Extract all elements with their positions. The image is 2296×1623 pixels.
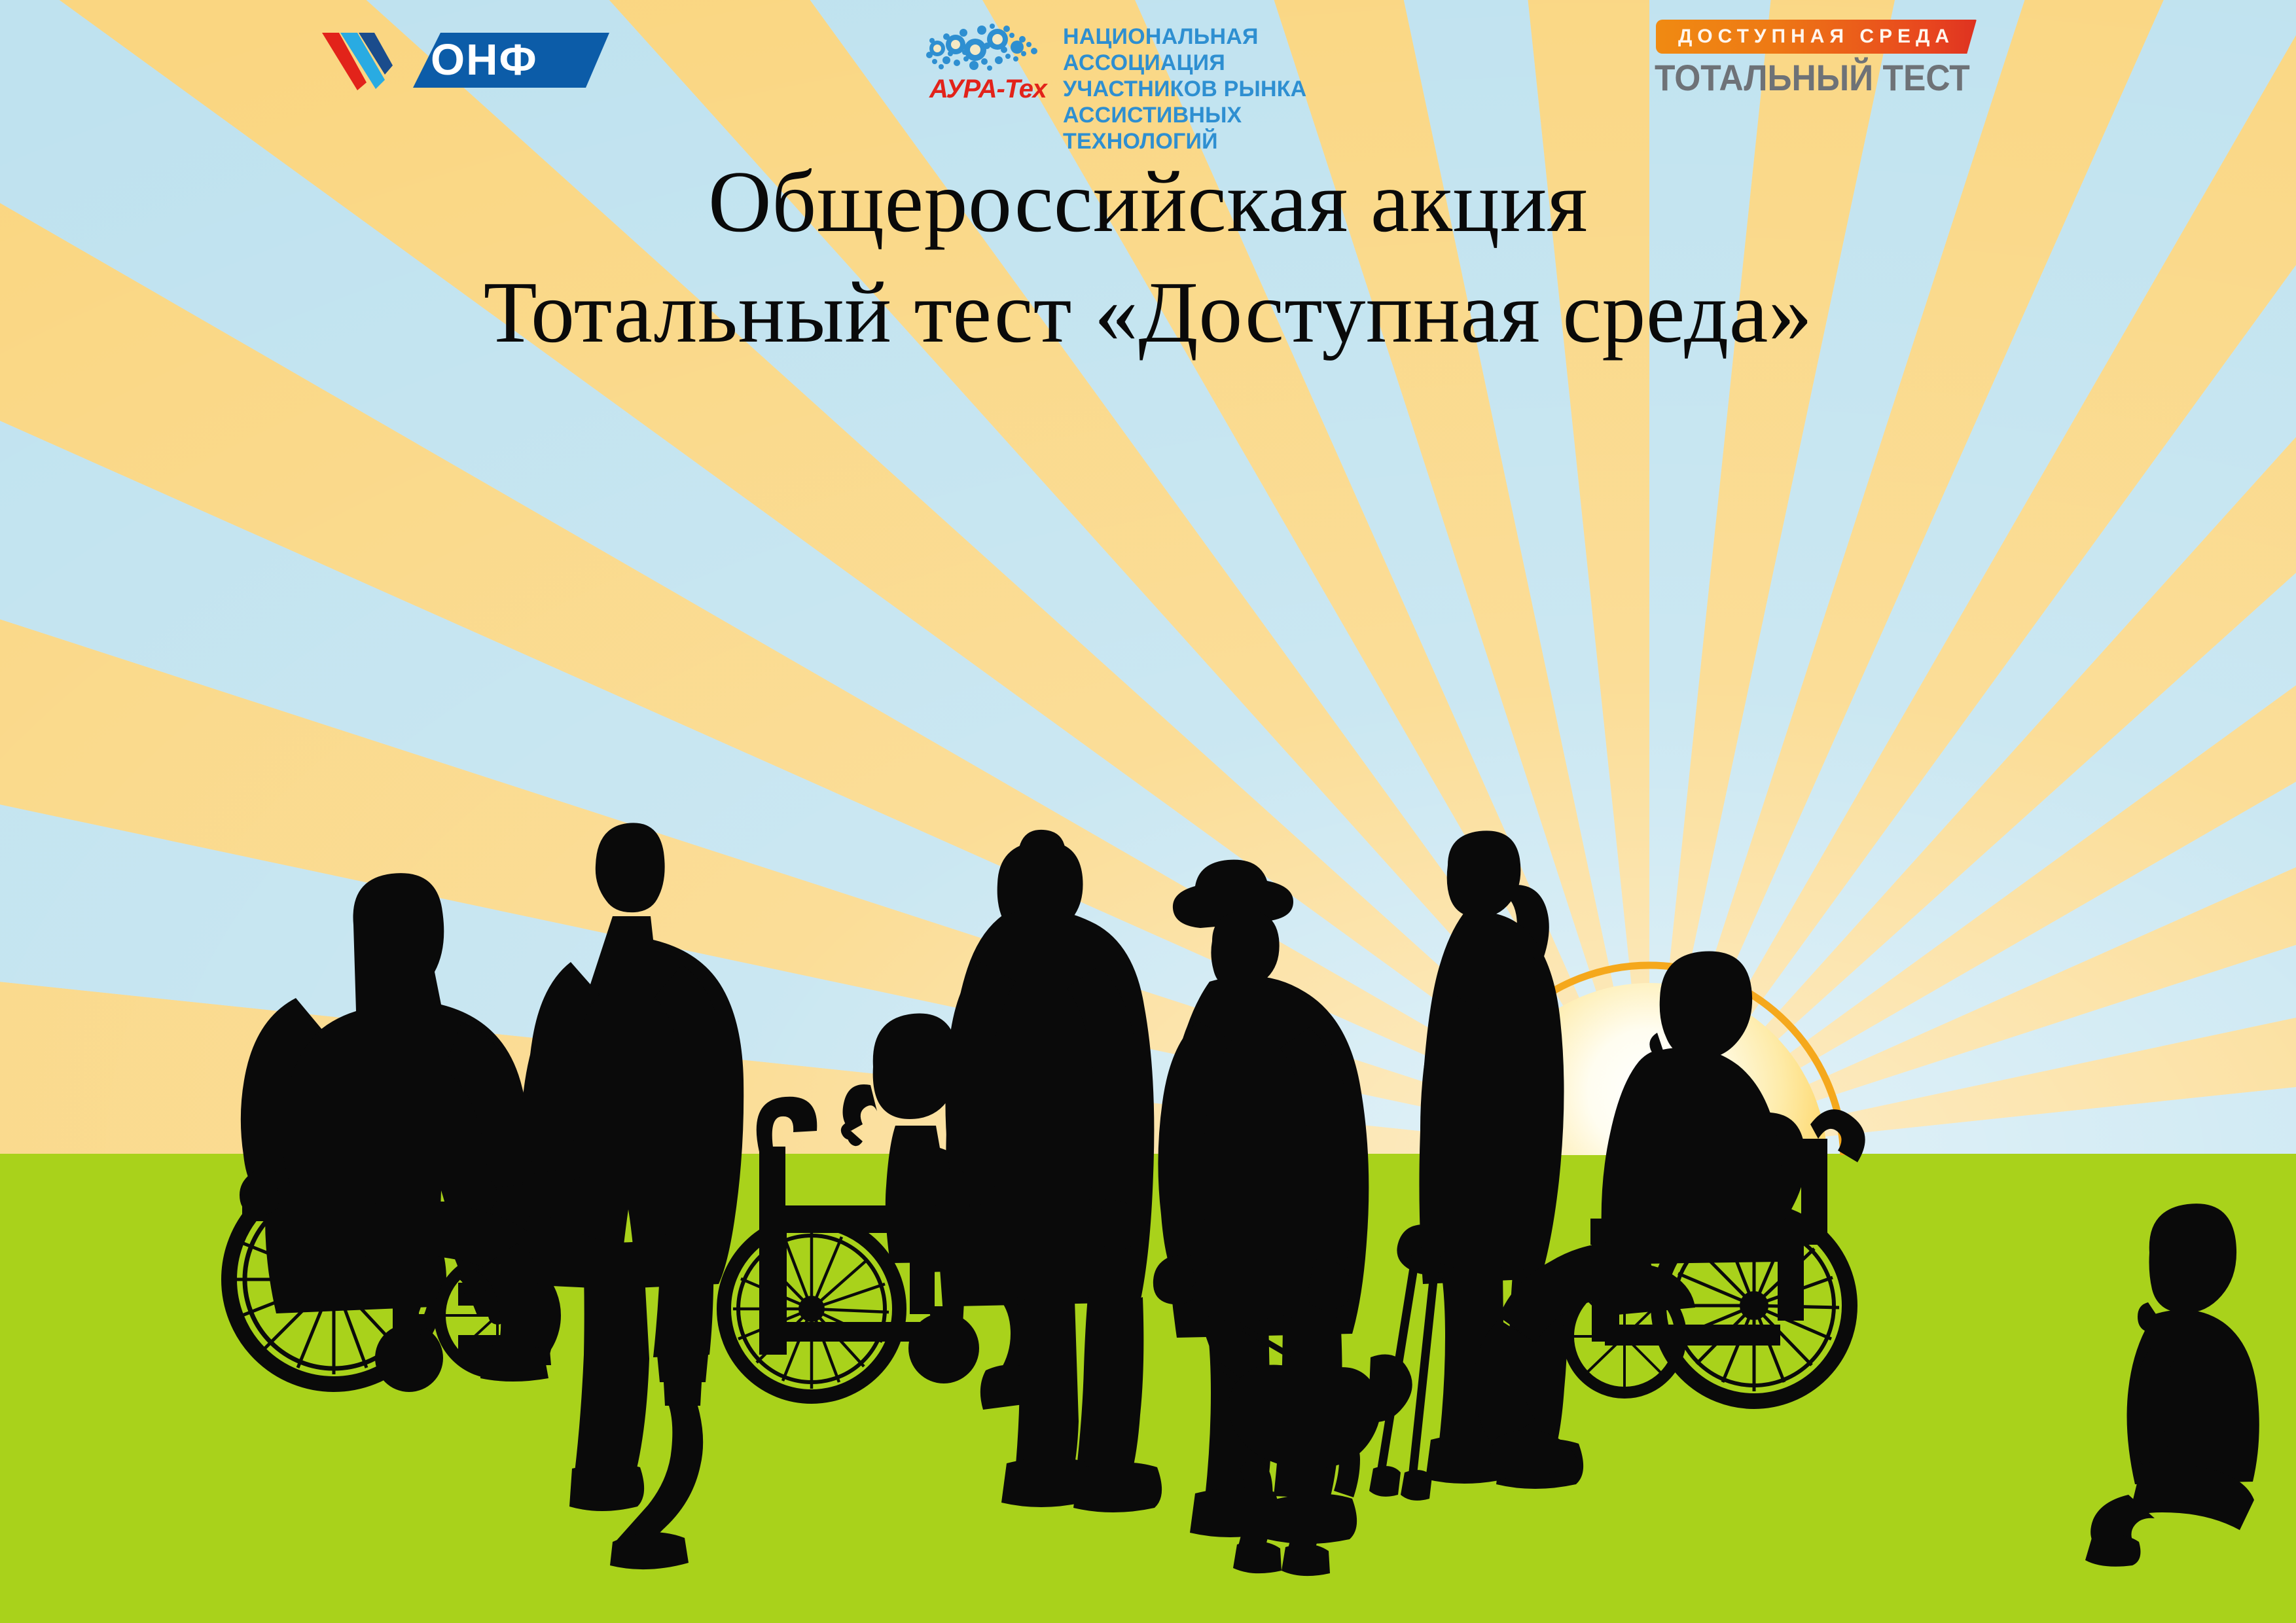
aura-brand-name: АУРА-Тех <box>929 75 1047 104</box>
aura-line-3: АССИСТИВНЫХ ТЕХНОЛОГИЙ <box>1063 102 1397 154</box>
aura-line-2: УЧАСТНИКОВ РЫНКА <box>1063 76 1397 102</box>
figure-man-in-wheelchair-left <box>229 873 555 1392</box>
total-test-label: ТОТАЛЬНЫЙ ТЕСТ <box>1655 56 1956 99</box>
poster-canvas: Общероссийская акция Тотальный тест «Дос… <box>0 0 2296 1623</box>
total-test-logo[interactable]: ДОСТУПНАЯ СРЕДА ТОТАЛЬНЫЙ ТЕСТ <box>1656 20 1996 111</box>
headline-line-2: Тотальный тест «Доступная среда» <box>0 264 2296 361</box>
onf-abbrev: ОНФ <box>431 38 594 82</box>
aura-tech-logo[interactable]: АУРА-Тех НАЦИОНАЛЬНАЯ АССОЦИАЦИЯ УЧАСТНИ… <box>924 22 1395 107</box>
accessible-environment-label: ДОСТУПНАЯ СРЕДА <box>1656 20 1977 54</box>
aura-line-1: НАЦИОНАЛЬНАЯ АССОЦИАЦИЯ <box>1063 24 1397 76</box>
figure-elderly-woman-with-cane <box>931 830 1162 1512</box>
headline-line-1: Общероссийская акция <box>0 154 2296 250</box>
figure-sitting-baby <box>2085 1204 2259 1567</box>
russia-dot-map-icon <box>924 22 1055 79</box>
onf-logo[interactable]: ОНФ <box>319 24 607 96</box>
aura-tagline: НАЦИОНАЛЬНАЯ АССОЦИАЦИЯ УЧАСТНИКОВ РЫНКА… <box>1063 24 1397 154</box>
figure-man-with-prosthetic-leg <box>520 823 744 1569</box>
page-title: Общероссийская акция Тотальный тест «Дос… <box>0 154 2296 361</box>
